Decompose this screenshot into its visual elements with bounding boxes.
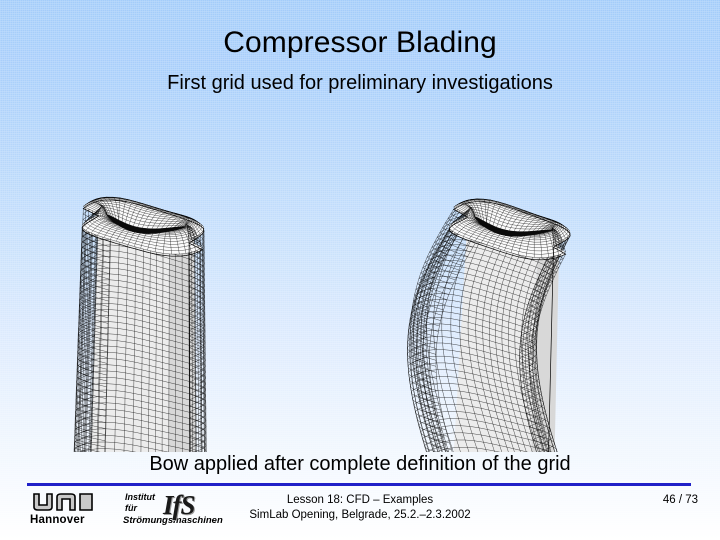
slide-subtitle: First grid used for preliminary investig… (0, 71, 720, 95)
footer-divider (27, 483, 691, 486)
straight-blade-mesh (14, 100, 264, 452)
footer-text: Lesson 18: CFD – Examples SimLab Opening… (0, 493, 720, 523)
bowed-blade-mesh (368, 100, 618, 452)
footer-line-2: SimLab Opening, Belgrade, 25.2.–2.3.2002 (0, 508, 720, 523)
straight-blade-grid-figure (14, 100, 264, 452)
footer-line-1: Lesson 18: CFD – Examples (0, 493, 720, 508)
slide-caption: Bow applied after complete definition of… (0, 452, 720, 476)
presentation-slide: Compressor Blading First grid used for p… (0, 0, 720, 540)
bowed-blade-grid-figure (368, 100, 618, 452)
page-number: 46 / 73 (663, 493, 698, 508)
slide-footer: Hannover Institut für Strömungsmaschinen… (0, 489, 720, 537)
slide-title: Compressor Blading (0, 26, 720, 60)
